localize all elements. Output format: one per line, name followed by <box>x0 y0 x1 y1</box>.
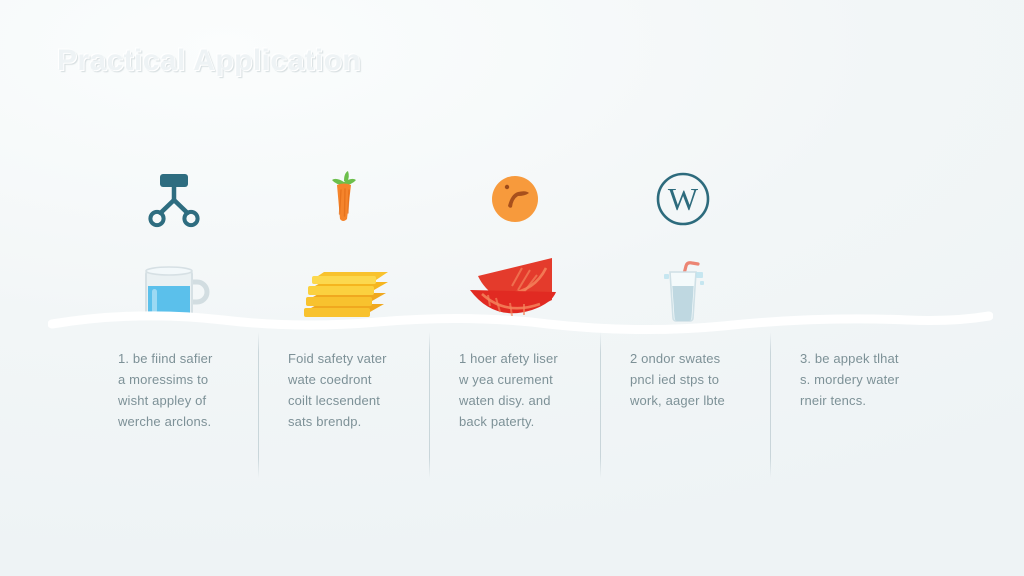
tongs-hierarchy-icon <box>114 168 234 230</box>
column-4-text: 2 ondor swates pncl ied stps to work, aa… <box>630 348 780 411</box>
column-2-text: Foid safety vater wate coedront coilt le… <box>288 348 438 432</box>
column-5-text: 3. be appek tlhat s. mordery water rneir… <box>800 348 950 411</box>
slide-canvas: Practical Application <box>0 0 1024 576</box>
column-divider-2 <box>429 332 430 478</box>
column-3-text: 1 hoer afety liser w yea curement waten … <box>459 348 609 432</box>
w-badge-icon: W <box>623 168 743 230</box>
page-title: Practical Application <box>57 44 361 78</box>
column-divider-3 <box>600 332 601 478</box>
orange-fruit-icon <box>455 168 575 230</box>
column-1-text: 1. be fiind safier a moressims to wisht … <box>118 348 268 432</box>
carrot-icon <box>284 168 404 230</box>
svg-text:W: W <box>668 181 699 217</box>
text-band: 1. be fiind safier a moressims to wisht … <box>0 330 1024 490</box>
column-divider-1 <box>258 332 259 478</box>
column-divider-4 <box>770 332 771 478</box>
